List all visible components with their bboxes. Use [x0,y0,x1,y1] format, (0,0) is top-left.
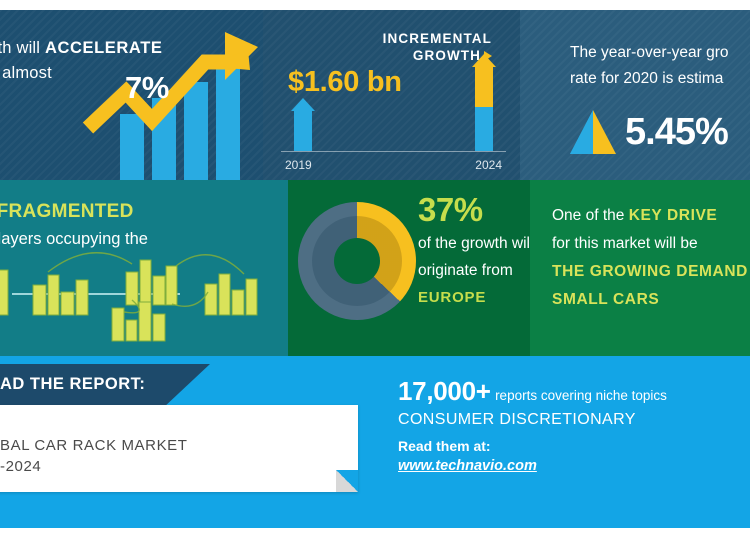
europe-line2: originate from [418,262,513,279]
europe-text: 37% of the growth will originate from EU… [418,190,530,311]
incremental-growth-value: $1.60 bn [288,66,402,99]
europe-region-label: EUROPE [418,289,486,306]
europe-line1: of the growth will [418,235,530,252]
panel-key-driver: One of the KEY DRIVE for this market wil… [530,180,750,356]
page-fold-corner-icon [336,470,358,492]
panel-europe-share: 37% of the growth will originate from EU… [288,180,530,356]
reports-count-suffix: reports covering niche topics [495,388,667,403]
read-them-at-label: Read them at: [398,438,667,454]
report-category: CONSUMER DISCRETIONARY [398,411,667,429]
report-banner: AD THE REPORT: BAL CAR RACK MARKET -2024… [0,356,750,528]
yoy-line1: The year-over-year gro [570,44,729,61]
bar-2024 [472,54,496,151]
incremental-label-line2: GROWTH [413,48,481,63]
reports-summary: 17,000+ reports covering niche topics CO… [398,376,667,474]
accelerate-line2: AGR of almost [0,64,52,82]
top-white-strip [0,0,750,10]
bottom-white-strip [0,528,750,536]
key-driver-text: One of the KEY DRIVE for this market wil… [552,202,750,314]
city-cluster-graphic [0,180,288,356]
key-driver-demand: THE GROWING DEMAND [552,263,748,280]
reports-count-row: 17,000+ reports covering niche topics [398,376,667,407]
incremental-growth-label: INCREMENTAL GROWTH [292,30,492,64]
year-label-start: 2019 [285,158,312,172]
panel-fragmented: rket is FRAGMENTED veral players occupyi… [0,180,288,356]
yoy-line2: rate for 2020 is estima [570,70,723,87]
panel-incremental-growth: INCREMENTAL GROWTH $1.60 bn 2019 2024 [263,10,520,180]
reports-count: 17,000+ [398,376,491,406]
up-triangle-icon [570,110,616,154]
panel-accelerate: et growth will ACCELERATE AGR of almost … [0,10,263,180]
infographic-canvas: et growth will ACCELERATE AGR of almost … [0,0,750,536]
incremental-label-line1: INCREMENTAL [383,31,492,46]
donut-hole [334,238,380,284]
read-the-report-tag: AD THE REPORT: [0,364,210,407]
accelerate-keyword: ACCELERATE [45,39,163,57]
stats-row-bottom: rket is FRAGMENTED veral players occupyi… [0,180,750,356]
europe-share-value: 37% [418,190,530,230]
key-driver-line1-pre: One of the [552,207,629,224]
panel-yoy-growth: The year-over-year gro rate for 2020 is … [520,10,750,180]
yoy-value: 5.45% [625,111,728,154]
stats-row-top: et growth will ACCELERATE AGR of almost … [0,10,750,180]
key-driver-small-cars: SMALL CARS [552,291,659,308]
report-title-text: BAL CAR RACK MARKET -2024 [0,405,358,477]
report-title-card[interactable]: BAL CAR RACK MARKET -2024 [0,405,358,492]
year-label-end: 2024 [475,158,502,172]
key-driver-line2: for this market will be [552,235,698,252]
accelerate-line1-pre: et growth will [0,39,45,57]
europe-donut-chart [298,202,416,320]
chart-axis-line [281,151,506,152]
accelerate-text: et growth will ACCELERATE AGR of almost [0,36,232,86]
key-driver-keyword: KEY DRIVE [629,207,718,224]
report-title-line1: BAL CAR RACK MARKET [0,437,188,454]
yoy-value-row: 5.45% [570,110,728,154]
cagr-value: 7% [125,70,169,106]
technavio-url-link[interactable]: www.technavio.com [398,458,667,474]
bar-2019 [291,98,315,151]
yoy-text: The year-over-year gro rate for 2020 is … [570,40,750,92]
report-title-line2: -2024 [0,458,41,475]
